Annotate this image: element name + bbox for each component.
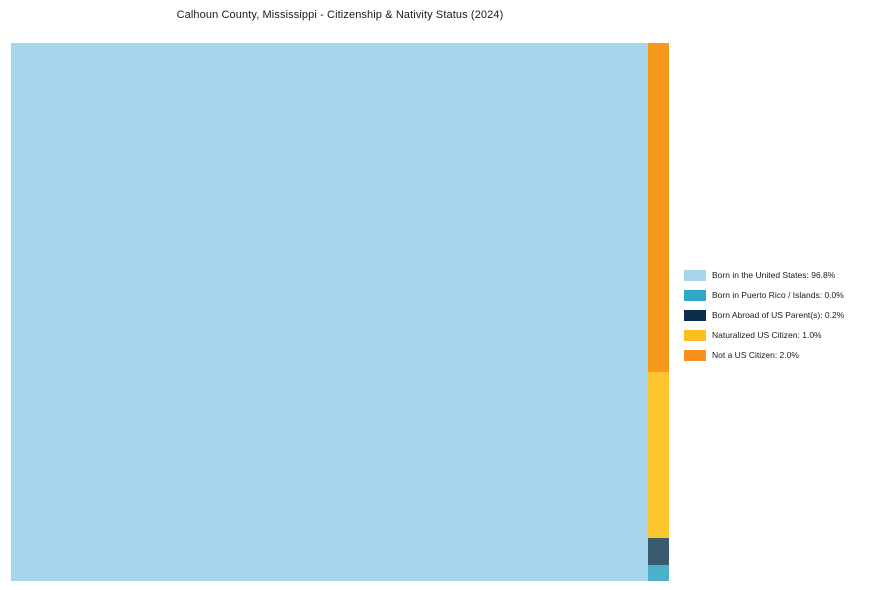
chart-title: Calhoun County, Mississippi - Citizenshi… <box>0 9 680 21</box>
legend-color-swatch <box>684 350 706 361</box>
legend-item[interactable]: Born in the United States: 96.8% <box>684 265 884 285</box>
treemap-plot-area <box>11 43 669 581</box>
legend-item-label: Naturalized US Citizen: 1.0% <box>712 330 822 341</box>
legend-item-label: Born Abroad of US Parent(s): 0.2% <box>712 310 844 321</box>
legend-color-swatch <box>684 290 706 301</box>
chart-figure: Calhoun County, Mississippi - Citizenshi… <box>0 0 889 590</box>
legend-item-label: Born in the United States: 96.8% <box>712 270 835 281</box>
legend-item[interactable]: Naturalized US Citizen: 1.0% <box>684 325 884 345</box>
legend-color-swatch <box>684 270 706 281</box>
treemap-tile[interactable] <box>648 538 669 565</box>
legend-item[interactable]: Not a US Citizen: 2.0% <box>684 345 884 365</box>
treemap-tile[interactable] <box>648 43 669 372</box>
treemap-tile[interactable] <box>648 372 669 538</box>
legend-item-label: Not a US Citizen: 2.0% <box>712 350 799 361</box>
legend-item[interactable]: Born Abroad of US Parent(s): 0.2% <box>684 305 884 325</box>
legend-item-label: Born in Puerto Rico / Islands: 0.0% <box>712 290 844 301</box>
treemap-tile[interactable] <box>648 565 669 581</box>
legend-item[interactable]: Born in Puerto Rico / Islands: 0.0% <box>684 285 884 305</box>
legend-color-swatch <box>684 310 706 321</box>
chart-legend: Born in the United States: 96.8%Born in … <box>684 265 884 365</box>
treemap-tile[interactable] <box>11 43 648 581</box>
legend-color-swatch <box>684 330 706 341</box>
